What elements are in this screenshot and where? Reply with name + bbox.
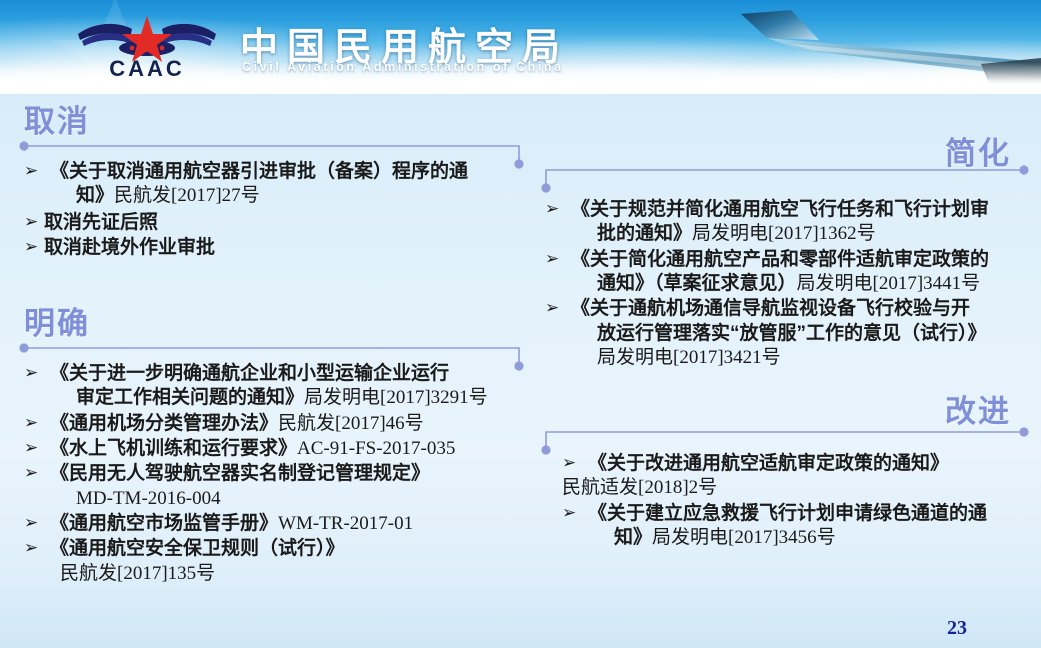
item-line-1: 《民用无人驾驶航空器实名制登记管理规定》 (24, 462, 534, 486)
bullet-arrow-icon: ➢ (545, 248, 559, 270)
list-item[interactable]: ➢ 《通用航空安全保卫规则（试行）》 民航发[2017]135号 (24, 537, 534, 586)
brand-title-english: Civil Aviation Administration of China (242, 60, 564, 74)
item-line-1: 《通用航空市场监管手册》 (50, 513, 278, 534)
item-line-1: 《通用机场分类管理办法》 (50, 413, 278, 434)
item-line-2: 通知》（草案征求意见） (597, 273, 797, 294)
item-line-2: 知》 (76, 185, 114, 206)
bullet-arrow-icon: ➢ (24, 437, 38, 459)
bullet-arrow-icon: ➢ (24, 537, 38, 559)
bullet-arrow-icon: ➢ (545, 297, 559, 319)
banner-divider (0, 84, 1041, 94)
item-reference: WM-TR-2017-01 (278, 513, 413, 534)
list-item[interactable]: ➢ 取消赴境外作业审批 (24, 236, 534, 260)
list-item[interactable]: ➢ 《水上飞机训练和运行要求》AC-91-FS-2017-035 (24, 437, 534, 461)
page-number: 23 (947, 617, 967, 640)
item-line-1: 《水上飞机训练和运行要求》 (50, 438, 297, 459)
item-line-2: 批的通知》 (597, 223, 692, 244)
item-reference: 局发明电[2017]1362号 (692, 223, 876, 244)
slide: CAAC 中国民用航空局 Civil Aviation Administrati… (0, 0, 1041, 648)
bullet-arrow-icon: ➢ (24, 236, 38, 258)
bullet-arrow-icon: ➢ (24, 462, 38, 484)
bullet-arrow-icon: ➢ (24, 412, 38, 434)
item-line-1: 《关于通航机场通信导航监视设备飞行校验与开 (545, 297, 1035, 321)
list-item[interactable]: ➢ 《关于改进通用航空适航审定政策的通知》 民航适发[2018]2号 (562, 452, 1032, 501)
bullet-arrow-icon: ➢ (24, 160, 38, 182)
bullet-arrow-icon: ➢ (24, 362, 38, 384)
list-item[interactable]: ➢ 《通用航空市场监管手册》WM-TR-2017-01 (24, 512, 534, 536)
list-item[interactable]: ➢ 《关于取消通用航空器引进审批（备案）程序的通 知》民航发[2017]27号 (24, 160, 534, 209)
item-reference: 局发明电[2017]3421号 (545, 346, 1035, 370)
item-reference: 局发明电[2017]3456号 (652, 527, 836, 548)
caac-wings-star-icon (72, 12, 222, 62)
item-reference: 民航发[2017]46号 (278, 413, 424, 434)
connector-line-simplify (538, 162, 1034, 196)
list-item[interactable]: ➢ 取消先证后照 (24, 211, 534, 235)
list-simplify: ➢ 《关于规范并简化通用航空飞行任务和飞行计划审 批的通知》局发明电[2017]… (545, 198, 1035, 371)
bullet-arrow-icon: ➢ (24, 211, 38, 233)
list-item[interactable]: ➢ 《民用无人驾驶航空器实名制登记管理规定》 MD-TM-2016-004 (24, 462, 534, 511)
bullet-arrow-icon: ➢ (562, 452, 576, 474)
caac-abbreviation: CAAC (72, 56, 222, 82)
item-reference: 局发明电[2017]3441号 (797, 273, 981, 294)
item-line-1: 《通用航空安全保卫规则（试行）》 (24, 537, 534, 561)
list-item[interactable]: ➢ 《关于进一步明确通航企业和小型运输企业运行 审定工作相关问题的通知》局发明电… (24, 362, 534, 411)
list-item[interactable]: ➢ 《通用机场分类管理办法》民航发[2017]46号 (24, 412, 534, 436)
list-cancel: ➢ 《关于取消通用航空器引进审批（备案）程序的通 知》民航发[2017]27号 … (24, 160, 534, 261)
item-line-1: 《关于简化通用航空产品和零部件适航审定政策的 (545, 248, 1035, 272)
item-reference: 民航适发[2018]2号 (562, 476, 1032, 500)
caac-logo: CAAC (72, 10, 222, 84)
item-line-1: 取消先证后照 (24, 211, 534, 235)
item-reference: 局发明电[2017]3291号 (304, 387, 488, 408)
item-line-1: 取消赴境外作业审批 (24, 236, 534, 260)
item-reference: 民航发[2017]135号 (24, 562, 534, 586)
item-line-1: 《关于进一步明确通航企业和小型运输企业运行 (24, 362, 534, 386)
item-reference: MD-TM-2016-004 (24, 487, 534, 511)
item-reference: AC-91-FS-2017-035 (297, 438, 455, 459)
bullet-arrow-icon: ➢ (545, 198, 559, 220)
list-improve: ➢ 《关于改进通用航空适航审定政策的通知》 民航适发[2018]2号 ➢ 《关于… (562, 452, 1032, 551)
item-line-2: 知》 (614, 527, 652, 548)
item-line-2: 放运行管理落实“放管服”工作的意见（试行）》 (545, 322, 1035, 346)
list-item[interactable]: ➢ 《关于简化通用航空产品和零部件适航审定政策的 通知》（草案征求意见）局发明电… (545, 248, 1035, 297)
list-clarify: ➢ 《关于进一步明确通航企业和小型运输企业运行 审定工作相关问题的通知》局发明电… (24, 362, 534, 587)
item-reference: 民航发[2017]27号 (114, 185, 260, 206)
section-title-clarify: 明确 (24, 298, 90, 343)
item-line-2: 审定工作相关问题的通知》 (76, 387, 304, 408)
list-item[interactable]: ➢ 《关于通航机场通信导航监视设备飞行校验与开 放运行管理落实“放管服”工作的意… (545, 297, 1035, 370)
item-line-1: 《关于规范并简化通用航空飞行任务和飞行计划审 (545, 198, 1035, 222)
bullet-arrow-icon: ➢ (24, 512, 38, 534)
bullet-arrow-icon: ➢ (562, 502, 576, 524)
item-line-1: 《关于取消通用航空器引进审批（备案）程序的通 (24, 160, 534, 184)
item-line-1: 《关于建立应急救援飞行计划申请绿色通道的通 (562, 502, 1032, 526)
item-line-1: 《关于改进通用航空适航审定政策的通知》 (562, 452, 1032, 476)
header-banner: CAAC 中国民用航空局 Civil Aviation Administrati… (0, 0, 1041, 88)
list-item[interactable]: ➢ 《关于建立应急救援飞行计划申请绿色通道的通 知》局发明电[2017]3456… (562, 502, 1032, 551)
section-title-cancel: 取消 (24, 96, 90, 141)
list-item[interactable]: ➢ 《关于规范并简化通用航空飞行任务和飞行计划审 批的通知》局发明电[2017]… (545, 198, 1035, 247)
